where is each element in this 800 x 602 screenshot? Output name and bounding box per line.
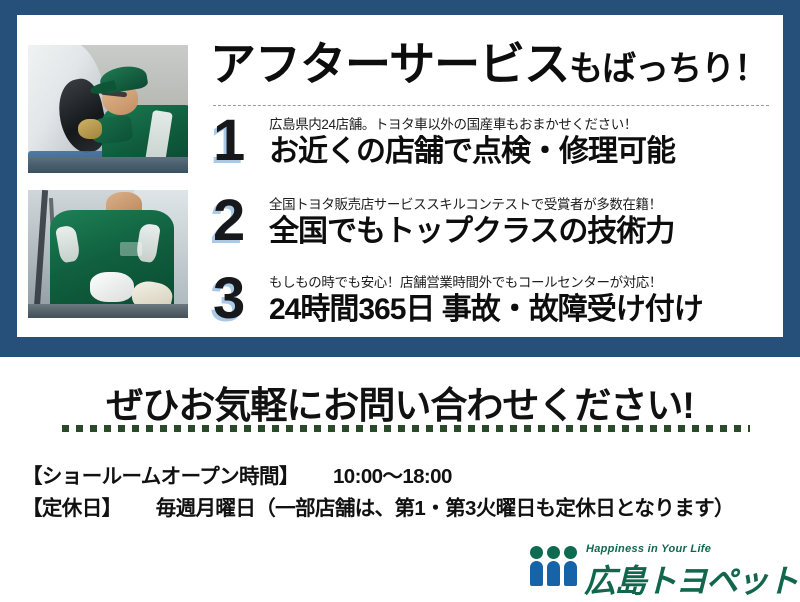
top-white-panel: アフターサービス もばっちり！ 1 広島県内24店舗。トヨタ車以外の国産車もおま… xyxy=(17,15,783,337)
headline: アフターサービス もばっちり！ xyxy=(210,41,770,97)
person-figure-1-icon xyxy=(530,546,543,586)
hiroshima-toyopet-logo: Happiness in Your Life 広島トヨペット xyxy=(530,543,786,595)
feature-item-3: 3 もしもの時でも安心！店舗営業時間外でもコールセンターが対応！ 24時間365… xyxy=(213,271,793,347)
info-label-closed-days: 【定休日】 xyxy=(22,497,122,520)
info-value-closed-days: 毎週月曜日（一部店舗は、第1・第3火曜日も定休日となります） xyxy=(156,497,734,520)
info-label-showroom-hours: 【ショールームオープン時間】 xyxy=(22,465,299,488)
photo-mechanic-with-white-gloves xyxy=(28,190,188,318)
feature-title-1: お近くの店舗で点検・修理可能 xyxy=(269,135,675,169)
uniform-emblem-shape xyxy=(120,242,142,256)
photo-1-content xyxy=(28,45,188,173)
top-navy-frame: アフターサービス もばっちり！ 1 広島県内24店舗。トヨタ車以外の国産車もおま… xyxy=(0,0,800,357)
info-line-showroom-hours: 【ショールームオープン時間】 10:00〜18:00 xyxy=(22,459,452,489)
call-to-action-heading: ぜひお気軽にお問い合わせください! xyxy=(0,375,800,429)
headline-divider xyxy=(213,105,769,106)
headline-emphasis: アフターサービス xyxy=(210,41,569,87)
headline-suffix: もばっちり！ xyxy=(569,52,767,86)
logo-brand-name: 広島トヨペット xyxy=(584,556,798,602)
info-value-showroom-hours: 10:00〜18:00 xyxy=(333,465,452,488)
work-glove-shape xyxy=(78,119,102,139)
three-people-icon xyxy=(530,546,578,588)
feature-body-2: 全国トヨタ販売店サービススキルコンテストで受賞者が多数在籍！ 全国でもトップクラ… xyxy=(269,193,674,248)
info-line-closed-days: 【定休日】 毎週月曜日（一部店舗は、第1・第3火曜日も定休日となります） xyxy=(22,491,734,521)
photo-2-floor xyxy=(28,304,188,318)
feature-item-1: 1 広島県内24店舗。トヨタ車以外の国産車もおまかせください！ お近くの店舗で点… xyxy=(213,113,793,189)
person-head-2 xyxy=(547,546,560,559)
photo-1-floor xyxy=(28,157,188,173)
person-figure-2-icon xyxy=(547,546,560,586)
feature-body-3: もしもの時でも安心！店舗営業時間外でもコールセンターが対応！ 24時間365日 … xyxy=(269,271,703,326)
feature-number-2: 2 xyxy=(213,193,269,248)
person-body-1 xyxy=(530,561,543,586)
feature-number-1: 1 xyxy=(213,113,269,168)
person-body-3 xyxy=(564,561,577,586)
photo-2-content xyxy=(28,190,188,318)
person-head-3 xyxy=(564,546,577,559)
photo-mechanic-inspecting-car-wheel xyxy=(28,45,188,173)
white-glove-left-shape xyxy=(90,272,134,302)
feature-subtitle-3: もしもの時でも安心！店舗営業時間外でもコールセンターが対応！ xyxy=(269,275,703,292)
feature-subtitle-2: 全国トヨタ販売店サービススキルコンテストで受賞者が多数在籍！ xyxy=(269,197,674,214)
feature-body-1: 広島県内24店舗。トヨタ車以外の国産車もおまかせください！ お近くの店舗で点検・… xyxy=(269,113,675,168)
feature-subtitle-1: 広島県内24店舗。トヨタ車以外の国産車もおまかせください！ xyxy=(269,117,675,134)
call-to-action-dotted-divider xyxy=(62,425,750,432)
logo-tagline: Happiness in Your Life xyxy=(586,543,711,555)
person-body-2 xyxy=(547,561,560,586)
feature-number-3: 3 xyxy=(213,271,269,326)
feature-item-2: 2 全国トヨタ販売店サービススキルコンテストで受賞者が多数在籍！ 全国でもトップ… xyxy=(213,193,793,269)
feature-title-2: 全国でもトップクラスの技術力 xyxy=(269,215,674,249)
person-figure-3-icon xyxy=(564,546,577,586)
feature-title-3: 24時間365日 事故・故障受け付け xyxy=(269,293,703,327)
person-head-1 xyxy=(530,546,543,559)
